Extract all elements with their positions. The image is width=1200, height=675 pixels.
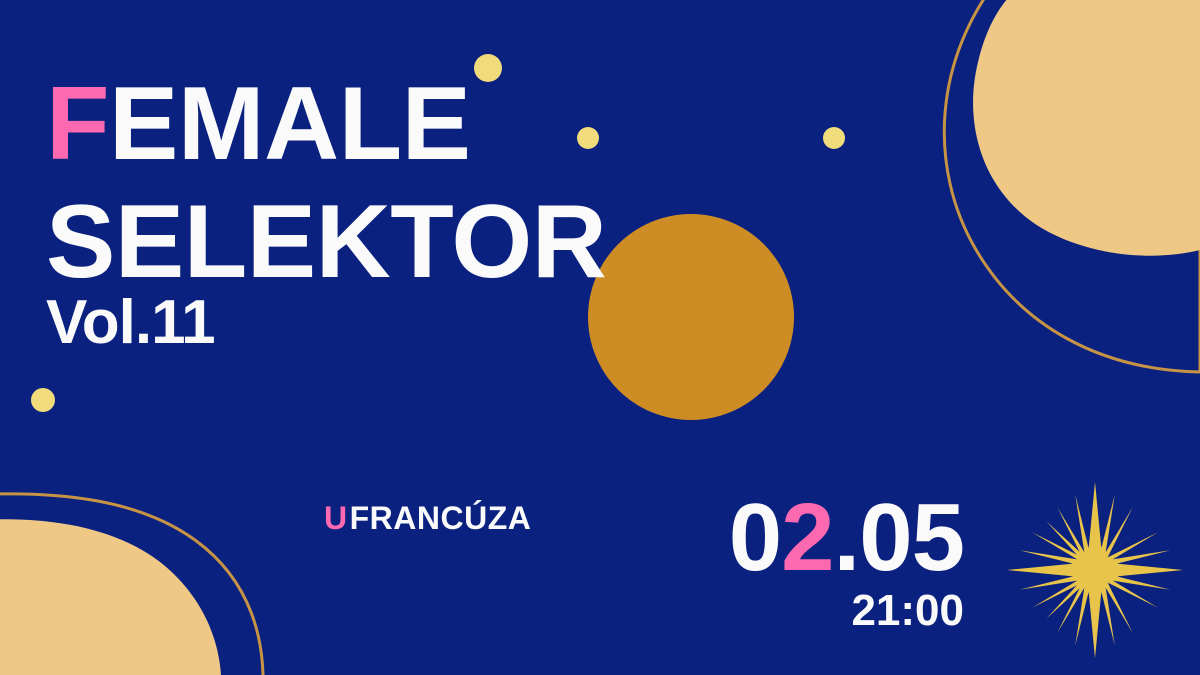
venue-name: UFRANCÚZA [324, 500, 531, 537]
venue-accent-letter: U [324, 500, 348, 536]
title-volume: Vol.11 [46, 292, 215, 354]
title-line-one-rest: EMALE [109, 66, 471, 182]
event-date-accent-digit: 2 [781, 484, 833, 591]
venue-label: FRANCÚZA [350, 500, 532, 536]
event-date-month: .05 [834, 484, 964, 591]
event-date: 02.05 [729, 492, 964, 583]
title-accent-letter: F [46, 66, 109, 182]
title-line-two: SELEKTOR [46, 190, 606, 294]
title-line-one: FEMALE [46, 72, 471, 176]
poster-content: FEMALE SELEKTOR Vol.11 UFRANCÚZA 02.05 2… [0, 0, 1200, 675]
event-time: 21:00 [729, 589, 964, 633]
event-datetime: 02.05 21:00 [729, 492, 964, 633]
event-poster: FEMALE SELEKTOR Vol.11 UFRANCÚZA 02.05 2… [0, 0, 1200, 675]
event-date-day-first: 0 [729, 484, 781, 591]
